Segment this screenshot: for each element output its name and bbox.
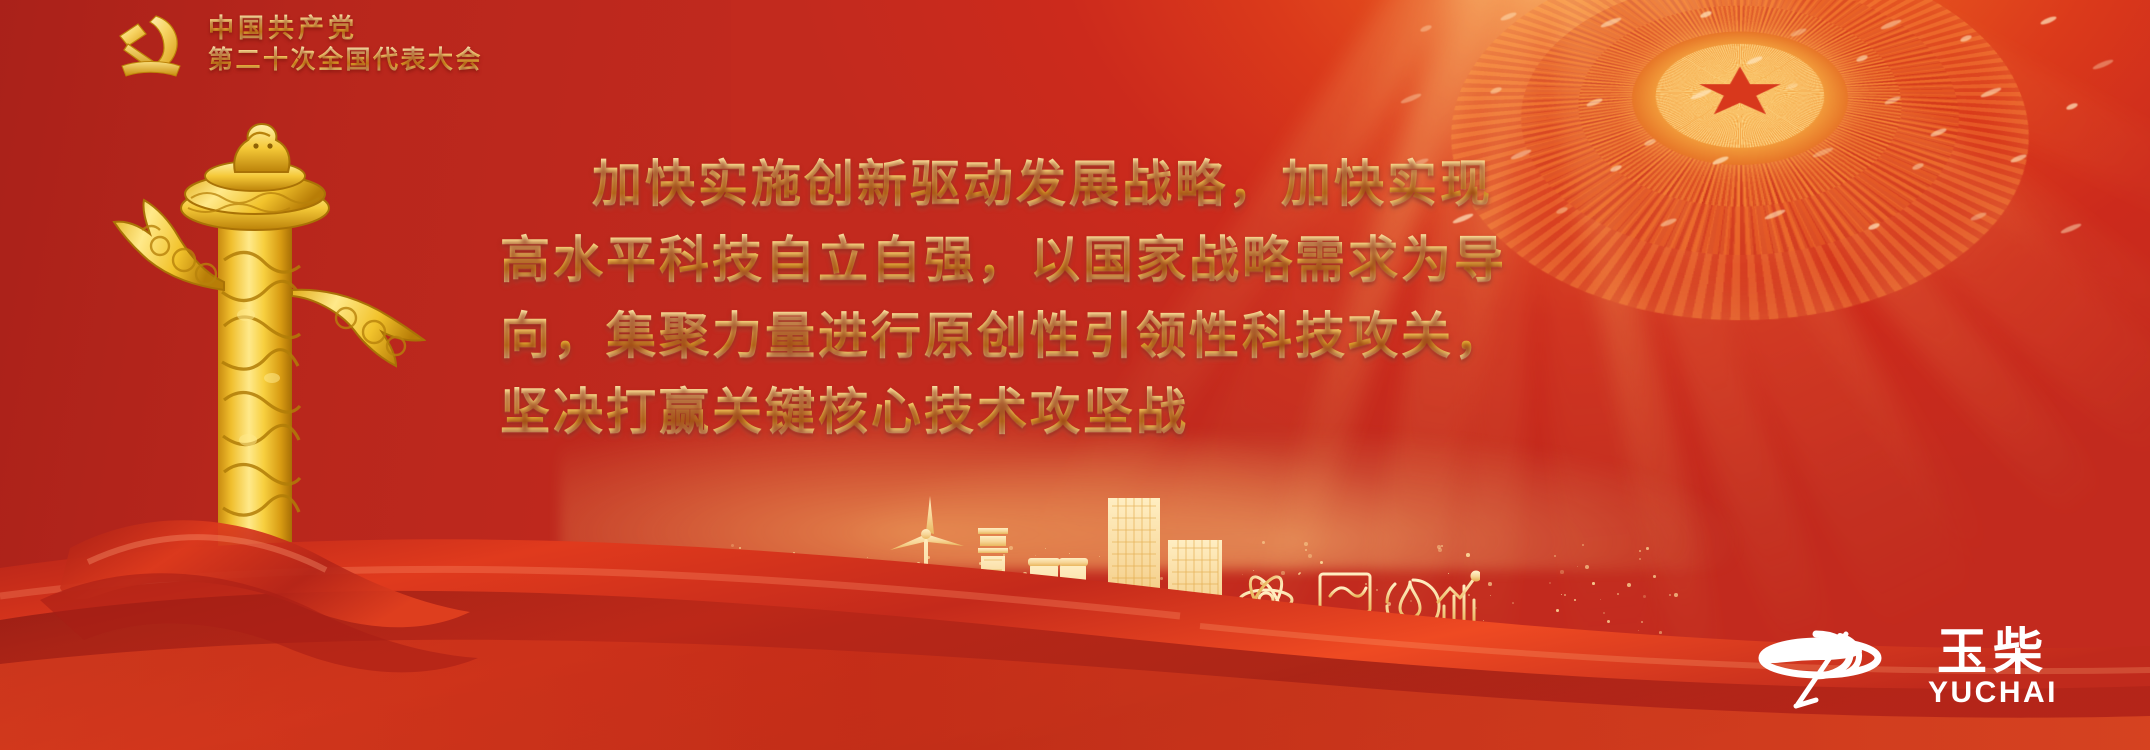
- congress-line-2: 第二十次全国代表大会: [208, 46, 483, 76]
- headline-line-3: 向，集聚力量进行原创性引领性科技攻关，: [500, 298, 1740, 374]
- yuchai-name-en: YUCHAI: [1928, 678, 2058, 708]
- yuchai-wordmark: 玉柴 YUCHAI: [1928, 627, 2058, 708]
- yuchai-name-cn: 玉柴: [1937, 627, 2049, 677]
- headline-line-2: 高水平科技自立自强，以国家战略需求为导: [500, 222, 1740, 298]
- yuchai-logo: 玉柴 YUCHAI: [1758, 624, 2058, 710]
- hammer-and-sickle-icon: [112, 8, 190, 80]
- congress-title: 中国共产党 第二十次全国代表大会: [208, 13, 483, 75]
- headline-line-4: 坚决打赢关键核心技术攻坚战: [500, 374, 1740, 450]
- congress-header: 中国共产党 第二十次全国代表大会: [112, 8, 483, 80]
- yuchai-ellipse-mark-icon: [1758, 624, 1908, 710]
- congress-line-1: 中国共产党: [208, 13, 483, 44]
- headline-block: 加快实施创新驱动发展战略，加快实现 高水平科技自立自强，以国家战略需求为导 向，…: [500, 146, 1740, 450]
- headline-line-1: 加快实施创新驱动发展战略，加快实现: [500, 146, 1740, 222]
- poster-banner: 中国共产党 第二十次全国代表大会 加快实施创新驱动发展战略，加快实现 高水平科技…: [0, 0, 2150, 750]
